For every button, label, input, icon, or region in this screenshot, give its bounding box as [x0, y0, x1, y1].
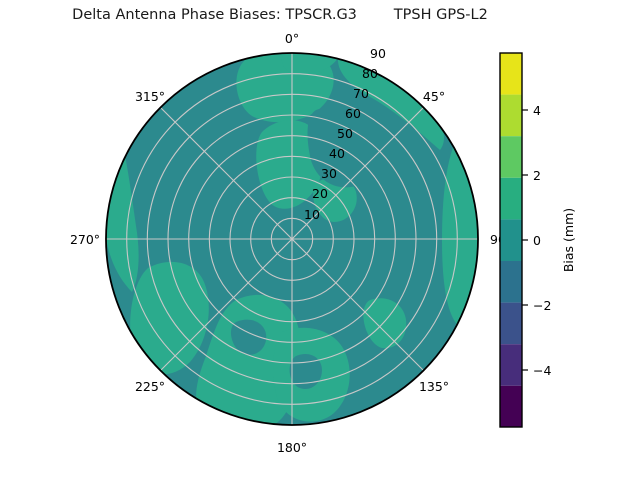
r-label-20: 20 [312, 186, 328, 201]
colorbar-tick-label-2: 2 [533, 168, 541, 183]
r-label-90: 90 [370, 46, 386, 61]
r-label-80: 80 [362, 66, 378, 81]
theta-label-180: 180° [277, 440, 307, 455]
colorbar-gradient [500, 53, 522, 427]
r-label-70: 70 [353, 86, 369, 101]
polar-chart[interactable]: 0° 45° 90 135° 180° 225° 270° 315° 10 20… [0, 0, 640, 480]
theta-label-270: 270° [70, 232, 100, 247]
theta-label-315: 315° [135, 89, 165, 104]
colorbar-axis-title: Bias (mm) [561, 208, 576, 272]
colorbar-tick-label-minus-2: −2 [533, 298, 551, 313]
r-label-30: 30 [321, 166, 337, 181]
colorbar-tick-label-minus-4: −4 [533, 363, 551, 378]
colorbar[interactable]: 4 2 0 −2 −4 Bias (mm) [500, 53, 576, 427]
colorbar-tick-label-0: 0 [533, 233, 541, 248]
polar-grid-spokes [106, 53, 478, 425]
colorbar-ticks [522, 110, 528, 370]
figure-canvas: Delta Antenna Phase Biases: TPSCR.G3 TPS… [0, 0, 640, 480]
r-label-10: 10 [304, 207, 320, 222]
r-label-50: 50 [337, 126, 353, 141]
theta-label-45: 45° [423, 89, 445, 104]
theta-label-225: 225° [135, 379, 165, 394]
r-label-60: 60 [345, 106, 361, 121]
colorbar-tick-label-4: 4 [533, 103, 541, 118]
r-label-40: 40 [329, 146, 345, 161]
theta-label-0: 0° [285, 31, 299, 46]
theta-label-135: 135° [419, 379, 449, 394]
